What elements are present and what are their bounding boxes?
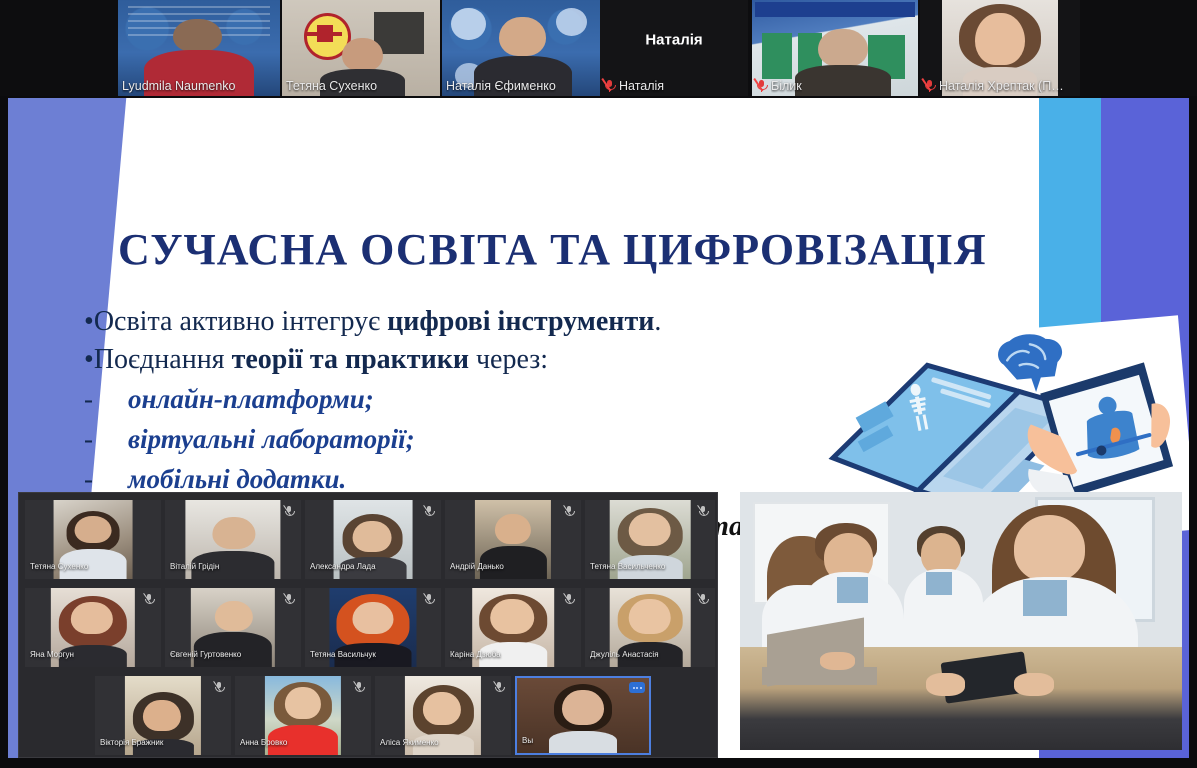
gallery-tile[interactable]: Тетяна Васильченко bbox=[585, 500, 715, 579]
gallery-tile-self[interactable]: Вы bbox=[515, 676, 651, 755]
participant-display-name: Наталія bbox=[600, 32, 748, 49]
mic-muted-icon bbox=[145, 594, 153, 605]
mic-muted-icon bbox=[495, 682, 503, 693]
filmstrip-tile-4[interactable]: Наталія Наталія bbox=[600, 0, 748, 96]
participant-name: Наталія Хрептак (Пол… bbox=[939, 79, 1069, 93]
filmstrip-tile-2[interactable]: Тетяна Сухенко bbox=[282, 0, 440, 96]
mic-muted-icon bbox=[756, 79, 767, 93]
name-label: Наталія Єфименко bbox=[442, 78, 562, 94]
gallery-tile[interactable]: Александра Лада bbox=[305, 500, 441, 579]
slide-title: СУЧАСНА ОСВІТА ТА ЦИФРОВІЗАЦІЯ bbox=[118, 224, 998, 275]
participant-filmstrip[interactable]: Lyudmila Naumenko Тетяна Сухенко bbox=[0, 0, 1197, 96]
tablet-in-hand-icon bbox=[1019, 361, 1176, 501]
bullet-text-after: через: bbox=[469, 344, 548, 375]
gallery-tile[interactable]: Джуліль Анастасія bbox=[585, 588, 715, 667]
participant-name: Тетяна Васильчук bbox=[310, 650, 376, 659]
participant-name: Вікторія Бражник bbox=[100, 738, 163, 747]
gallery-tile[interactable]: Євгеній Гуртовенко bbox=[165, 588, 301, 667]
mic-muted-icon bbox=[699, 594, 707, 605]
participant-name: Тетяна Сухенко bbox=[286, 79, 377, 93]
bullet-marker: • bbox=[84, 306, 94, 337]
name-label: Тетяна Сухенко bbox=[282, 78, 383, 94]
name-label: Наталія bbox=[600, 78, 670, 94]
gallery-tile[interactable]: Тетяна Васильчук bbox=[305, 588, 441, 667]
zoom-meeting-window: Lyudmila Naumenko Тетяна Сухенко bbox=[0, 0, 1197, 768]
bullet-item: •Освіта активно інтегрує цифрові інструм… bbox=[84, 303, 874, 341]
mic-muted-icon bbox=[565, 506, 573, 517]
participants-gallery-panel[interactable]: Тетяна Сухенко Віталій Грідін bbox=[18, 492, 718, 758]
mic-muted-icon bbox=[565, 594, 573, 605]
filmstrip-tile-5[interactable]: Білик bbox=[752, 0, 918, 96]
dash-marker: - bbox=[84, 419, 128, 459]
mic-muted-icon bbox=[425, 594, 433, 605]
head bbox=[818, 29, 868, 67]
participant-name: Джуліль Анастасія bbox=[590, 650, 659, 659]
head bbox=[173, 19, 222, 52]
dash-marker: - bbox=[84, 379, 128, 419]
bullet-text-before: Освіта активно інтегрує bbox=[94, 306, 387, 337]
more-options-badge[interactable] bbox=[629, 682, 645, 693]
gallery-tile[interactable]: Андрій Данько bbox=[445, 500, 581, 579]
torso bbox=[795, 65, 891, 96]
participant-name: Lyudmila Naumenko bbox=[122, 79, 235, 93]
mic-muted-icon bbox=[604, 79, 615, 93]
laptop-base bbox=[762, 667, 877, 685]
gallery-tile[interactable]: Яна Моргун bbox=[25, 588, 161, 667]
dash-text: мобільні додатки. bbox=[128, 464, 346, 494]
participant-name: Наталія Єфименко bbox=[446, 79, 556, 93]
mic-muted-icon bbox=[924, 79, 935, 93]
mic-muted-icon bbox=[215, 682, 223, 693]
name-label: Наталія Хрептак (Пол… bbox=[920, 78, 1075, 94]
student-head bbox=[921, 533, 961, 574]
hand bbox=[926, 673, 966, 696]
participant-name: Анна Бровко bbox=[240, 738, 287, 747]
participant-name: Александра Лада bbox=[310, 562, 376, 571]
head bbox=[499, 17, 546, 55]
participant-name: Наталія bbox=[619, 79, 664, 93]
participant-name: Андрій Данько bbox=[450, 562, 504, 571]
dash-text: онлайн-платформи; bbox=[128, 384, 374, 414]
name-label: Lyudmila Naumenko bbox=[118, 78, 241, 94]
student-head bbox=[1014, 515, 1085, 582]
participant-name: Тетяна Васильченко bbox=[590, 562, 665, 571]
filmstrip-tile-3[interactable]: Наталія Єфименко bbox=[442, 0, 600, 96]
dash-item: -віртуальні лабораторії; bbox=[84, 419, 874, 459]
bullet-text-after: . bbox=[654, 306, 661, 337]
mic-muted-icon bbox=[699, 506, 707, 517]
classroom-photo bbox=[740, 492, 1182, 750]
bullet-text-bold: цифрові інструменти bbox=[387, 306, 654, 337]
gallery-tile[interactable]: Віталій Грідін bbox=[165, 500, 301, 579]
gallery-tile[interactable]: Анна Бровко bbox=[235, 676, 371, 755]
bullet-item: •Поєднання теорії та практики через: bbox=[84, 341, 874, 379]
participant-name: Яна Моргун bbox=[30, 650, 74, 659]
gallery-row-1: Тетяна Сухенко Віталій Грідін bbox=[19, 497, 717, 582]
bullet-text-before: Поєднання bbox=[94, 344, 232, 375]
participant-name: Аліса Якименко bbox=[380, 738, 439, 747]
gallery-tile[interactable]: Аліса Якименко bbox=[375, 676, 511, 755]
gallery-tile[interactable]: Каріна Дзюба bbox=[445, 588, 581, 667]
filmstrip-tile-6[interactable]: Наталія Хрептак (Пол… bbox=[920, 0, 1080, 96]
gallery-row-3: Вікторія Бражник Анна Бровко bbox=[19, 673, 717, 758]
dash-item: -онлайн-платформи; bbox=[84, 379, 874, 419]
photo-content bbox=[740, 492, 1182, 750]
participant-name: Каріна Дзюба bbox=[450, 650, 501, 659]
mic-muted-icon bbox=[285, 594, 293, 605]
mic-muted-icon bbox=[355, 682, 363, 693]
name-label: Білик bbox=[752, 78, 808, 94]
bullet-text-bold: теорії та практики bbox=[232, 344, 469, 375]
mic-muted-icon bbox=[425, 506, 433, 517]
participant-name: Тетяна Сухенко bbox=[30, 562, 88, 571]
dash-text: віртуальні лабораторії; bbox=[128, 424, 415, 454]
filmstrip-tile-1[interactable]: Lyudmila Naumenko bbox=[118, 0, 280, 96]
mic-muted-icon bbox=[285, 506, 293, 517]
head bbox=[342, 38, 383, 71]
participant-name: Білик bbox=[771, 79, 802, 93]
participant-name: Вы bbox=[522, 736, 533, 745]
hand bbox=[1014, 673, 1054, 696]
gallery-tile[interactable]: Тетяна Сухенко bbox=[25, 500, 161, 579]
hand bbox=[820, 652, 855, 670]
participant-name: Євгеній Гуртовенко bbox=[170, 650, 241, 659]
gallery-tile[interactable]: Вікторія Бражник bbox=[95, 676, 231, 755]
participant-name: Віталій Грідін bbox=[170, 562, 219, 571]
shared-screen-slide: СУЧАСНА ОСВІТА ТА ЦИФРОВІЗАЦІЯ •Освіта а… bbox=[8, 98, 1189, 758]
gallery-row-2: Яна Моргун Євгеній Гуртовенко bbox=[19, 585, 717, 670]
bullet-marker: • bbox=[84, 344, 94, 375]
